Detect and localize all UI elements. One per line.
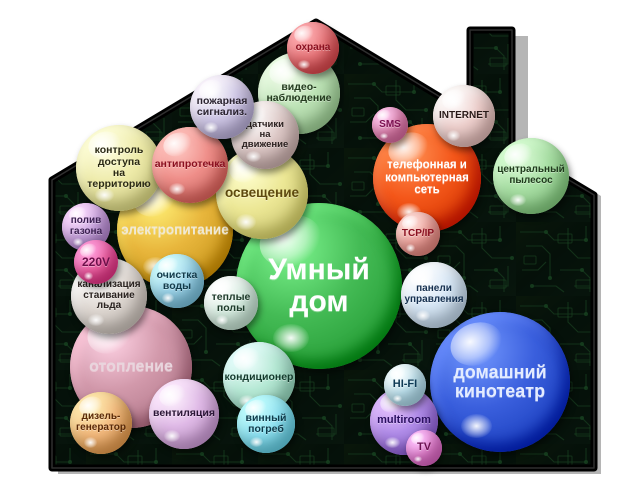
- bubble-kontrol-dostupa[interactable]: контроль доступа на территорию: [76, 125, 162, 211]
- bubble-label-osveschenie: освещение: [222, 186, 302, 201]
- bubble-label-tv: TV: [414, 442, 434, 454]
- poster-canvas: охранавидео- наблюдениепожарная сигнализ…: [0, 0, 642, 481]
- bubble-label-videonabludenie: видео- наблюдение: [263, 82, 334, 105]
- bubble-label-ohrana: охрана: [293, 43, 334, 54]
- bubble-paneli-upravleniya[interactable]: панели управления: [401, 262, 467, 328]
- bubble-label-hifi: HI-FI: [390, 379, 420, 391]
- bubble-sms[interactable]: SMS: [372, 107, 408, 143]
- bubble-label-dizel-generator: дизель- генератор: [73, 412, 129, 434]
- bubble-internet[interactable]: INTERNET: [433, 85, 495, 147]
- bubble-label-internet: INTERNET: [436, 111, 492, 122]
- bubble-ochistka-vody[interactable]: очистка воды: [150, 254, 204, 308]
- bubble-ohrana[interactable]: охрана: [287, 22, 339, 74]
- bubble-teplye-poly[interactable]: теплые полы: [204, 276, 258, 330]
- bubble-ventilyatsiya[interactable]: вентиляция: [149, 379, 219, 449]
- bubble-label-ventilyatsiya: вентиляция: [150, 408, 218, 419]
- bubble-label-pylesos: центральный пылесос: [494, 165, 568, 187]
- bubble-label-telefonnaya-set: телефонная и компьютерная сеть: [382, 159, 472, 196]
- bubble-dizel-generator[interactable]: дизель- генератор: [70, 392, 132, 454]
- bubble-pylesos[interactable]: центральный пылесос: [493, 138, 569, 214]
- bubble-label-teplye-poly: теплые полы: [209, 292, 254, 315]
- bubble-label-elektropitanie: электропитание: [118, 223, 231, 238]
- bubble-label-tcpip: TCP/IP: [399, 229, 437, 240]
- bubble-label-otoplenie: отопление: [86, 358, 176, 375]
- bubble-domashniy-kinoteatr[interactable]: домашний кинотеатр: [430, 312, 570, 452]
- bubble-pozharnaya[interactable]: пожарная сигнализ.: [190, 75, 254, 139]
- bubble-label-konditsioner: кондиционер: [223, 372, 295, 383]
- bubble-label-vinnyi-pogreb: винный погреб: [242, 413, 289, 436]
- bubble-label-domashniy-kinoteatr: домашний кинотеатр: [450, 363, 549, 402]
- bubble-label-poliv-gazona: полив газона: [67, 216, 105, 238]
- bubble-label-antiproteska: антипротечка: [152, 159, 228, 170]
- bubble-label-kontrol-dostupa: контроль доступа на территорию: [84, 145, 154, 190]
- bubble-label-pozharnaya: пожарная сигнализ.: [194, 96, 251, 119]
- bubble-vinnyi-pogreb[interactable]: винный погреб: [237, 395, 295, 453]
- bubble-tv[interactable]: TV: [406, 430, 442, 466]
- bubble-label-ochistka-vody: очистка воды: [154, 270, 201, 293]
- bubble-v220[interactable]: 220V: [74, 240, 118, 284]
- bubble-label-v220: 220V: [79, 256, 113, 269]
- bubble-tcpip[interactable]: TCP/IP: [396, 212, 440, 256]
- bubble-label-paneli-upravleniya: панели управления: [401, 284, 466, 306]
- bubble-label-kanalizatsiya: канализация стаивание льда: [74, 280, 143, 312]
- bubble-hifi[interactable]: HI-FI: [384, 364, 426, 406]
- bubble-label-umnyi-dom: Умный дом: [265, 254, 373, 319]
- bubble-label-multiroom: multiroom: [374, 415, 434, 427]
- bubble-label-sms: SMS: [376, 120, 404, 131]
